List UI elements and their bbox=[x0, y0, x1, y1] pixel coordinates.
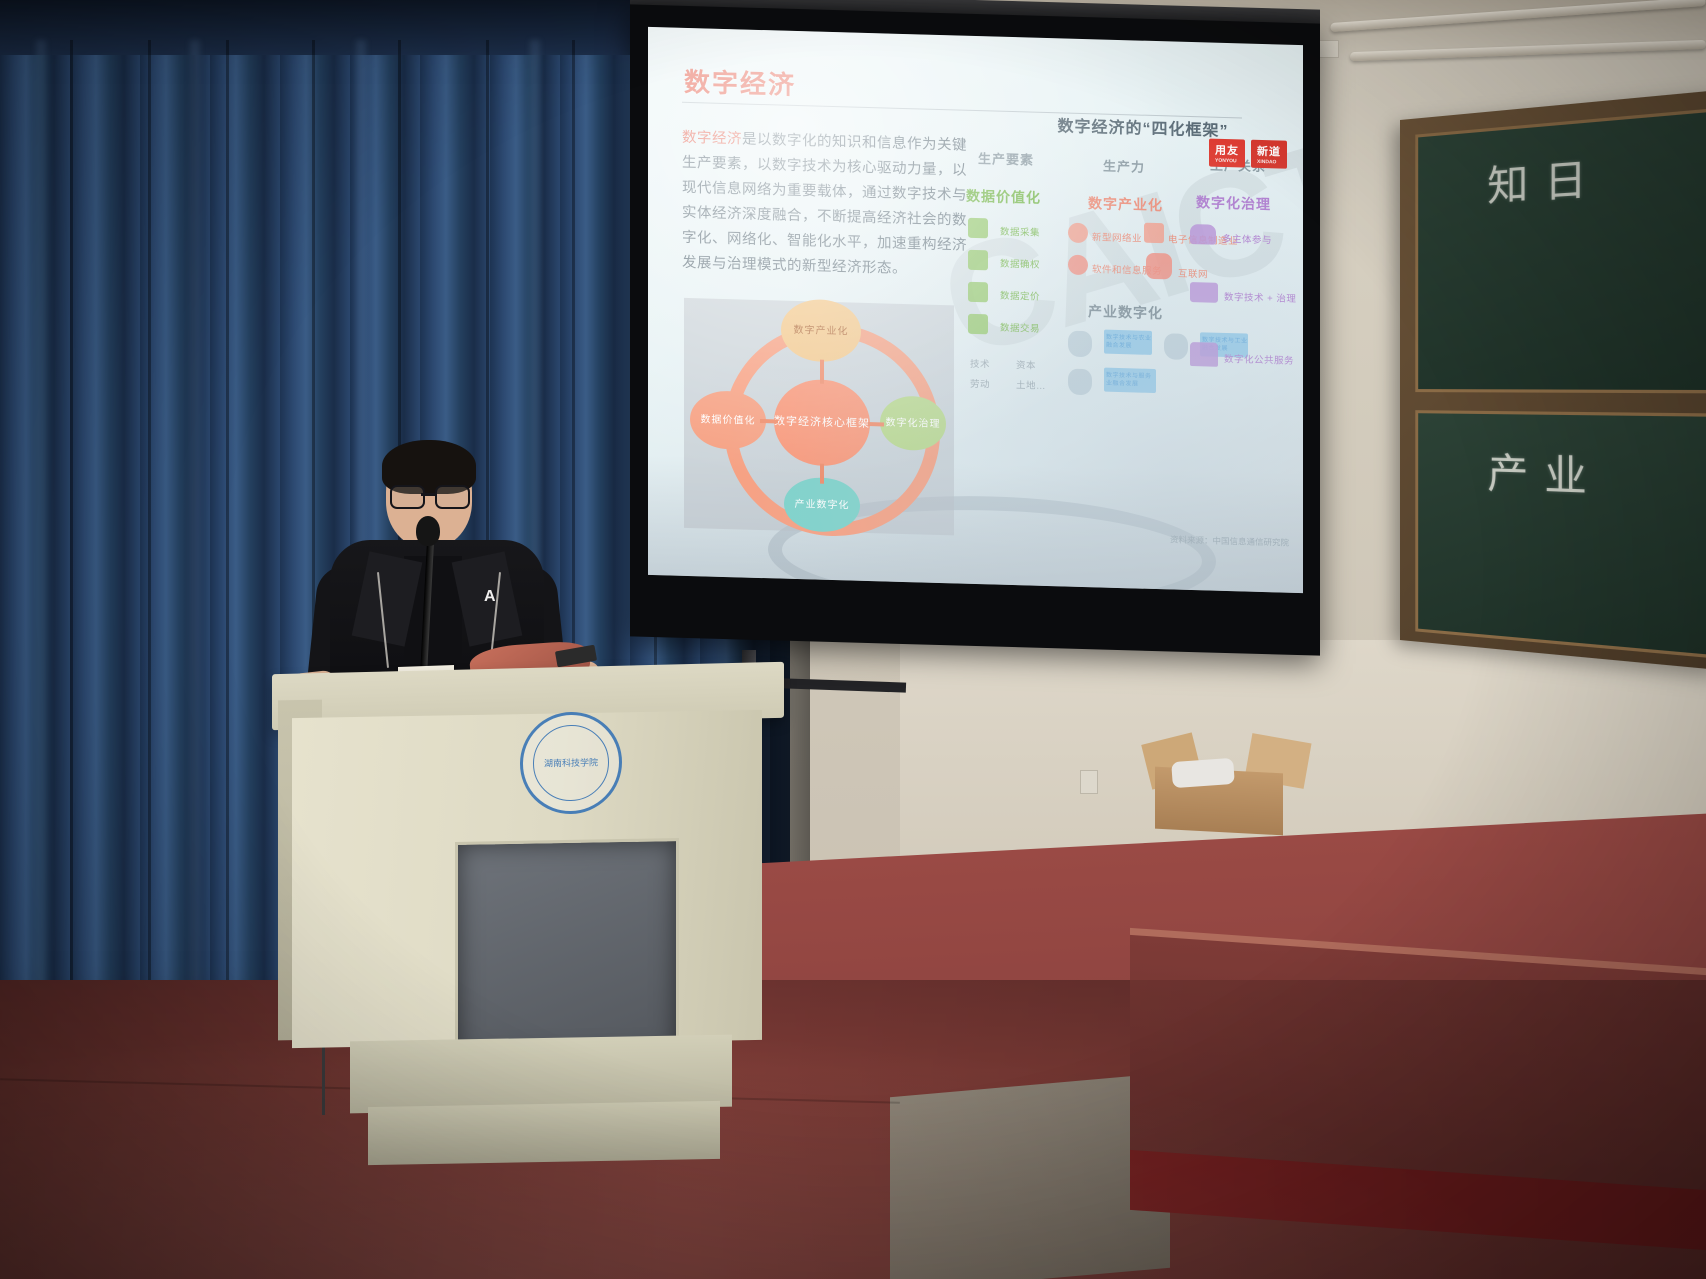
curtain-fold bbox=[148, 40, 151, 1035]
slide-title: 数字经济 bbox=[684, 62, 796, 102]
glasses-lens-left bbox=[390, 485, 425, 509]
diagram-arrow bbox=[868, 422, 884, 426]
diagram-arrow bbox=[820, 464, 824, 484]
data-pricing-icon bbox=[968, 282, 988, 303]
software-services-icon bbox=[1068, 255, 1088, 276]
glasses-lens-right bbox=[435, 485, 470, 509]
logo-xindao-sub: XINDAO bbox=[1257, 159, 1281, 166]
framework-col3-item: 数字化公共服务 bbox=[1224, 351, 1294, 367]
floor-reflection bbox=[0, 980, 1706, 1279]
framework-col2-item: 互联网 bbox=[1178, 266, 1208, 281]
wall-outlet-icon bbox=[1080, 770, 1098, 794]
projected-slide: CAICT 数字经济 数字经济是以数字化的知识和信息作为关键生产要素，以数字技术… bbox=[648, 27, 1303, 593]
multi-stakeholder-icon bbox=[1190, 224, 1216, 245]
industry-icon bbox=[1164, 333, 1188, 360]
logo-yonyou-text: 用友 bbox=[1215, 145, 1239, 158]
framework-col2-head: 生产力 bbox=[1103, 156, 1145, 176]
slide-logos: 用友 YONYOU 新道 XINDAO bbox=[1209, 139, 1287, 169]
framework-col3-sub: 数字化治理 bbox=[1196, 192, 1271, 214]
framework-col3-item: 多主体参与 bbox=[1222, 231, 1272, 246]
curtain-fold bbox=[226, 40, 229, 1035]
blackboard-lower-text: 产 业 bbox=[1487, 445, 1589, 507]
framework-col1-footer: 资本 bbox=[1016, 357, 1036, 372]
framework-col1-head: 生产要素 bbox=[978, 148, 1034, 169]
photo-scene: 知 日 产 业 CAICT 数字经济 数字经济是以数字化的知识和信息作为关键生产… bbox=[0, 0, 1706, 1279]
framework-title: 数字经济的“四化框架” bbox=[993, 110, 1293, 142]
podium-base-lower bbox=[368, 1101, 720, 1165]
framework-col2-sub2: 产业数字化 bbox=[1088, 301, 1163, 323]
jacket-logo-icon: A bbox=[484, 588, 496, 606]
framework-col1-item: 数据采集 bbox=[1000, 224, 1040, 239]
speaker-glasses bbox=[390, 485, 468, 505]
blackboard: 知 日 产 业 bbox=[1400, 89, 1706, 670]
slide-paragraph-body: 是以数字化的知识和信息作为关键生产要素，以数字技术为核心驱动力量，以现代信息网络… bbox=[682, 131, 967, 277]
diagram-arrow bbox=[760, 419, 778, 424]
blackboard-upper-panel: 知 日 bbox=[1415, 108, 1706, 393]
logo-xindao-text: 新道 bbox=[1257, 146, 1281, 159]
framework-col1-item: 数据确权 bbox=[1000, 256, 1040, 271]
logo-yonyou: 用友 YONYOU bbox=[1209, 139, 1245, 168]
electronics-manufacturing-icon bbox=[1144, 223, 1164, 244]
logo-xindao: 新道 XINDAO bbox=[1251, 140, 1287, 169]
curtain-highlight bbox=[190, 40, 200, 1035]
blackboard-upper-text: 知 日 bbox=[1487, 150, 1589, 216]
new-network-icon bbox=[1068, 223, 1088, 244]
digital-tech-governance-icon bbox=[1190, 282, 1218, 303]
curtain-fold bbox=[70, 40, 73, 1035]
circular-framework-diagram: 数字产业化 数据价值化 数字化治理 产业数字化 数字经济核心框架 bbox=[684, 298, 954, 536]
services-icon bbox=[1068, 369, 1092, 396]
curtain-highlight bbox=[36, 40, 46, 1035]
slide-paragraph-lead: 数字经济 bbox=[682, 130, 742, 148]
framework-col2-item: 新型网络业 bbox=[1092, 229, 1142, 244]
podium-embedded-monitor bbox=[455, 838, 679, 1062]
framework-col2-sub: 数字产业化 bbox=[1088, 193, 1163, 215]
internet-icon bbox=[1146, 253, 1172, 280]
data-ownership-icon bbox=[968, 250, 988, 271]
podium-emblem-ring bbox=[533, 724, 609, 801]
framework-col1-item: 数据交易 bbox=[1000, 320, 1040, 335]
slide-paragraph: 数字经济是以数字化的知识和信息作为关键生产要素，以数字技术为核心驱动力量，以现代… bbox=[682, 126, 972, 284]
framework-col2-item2: 数字技术与农业融合发展 bbox=[1106, 334, 1152, 351]
framework-col3-item: 数字技术 + 治理 bbox=[1224, 289, 1296, 305]
framework-col1-footer: 土地… bbox=[1016, 377, 1046, 392]
framework-col2-item2: 数字技术与服务业融合发展 bbox=[1106, 372, 1156, 389]
blackboard-lower-panel: 产 业 bbox=[1415, 410, 1706, 658]
framework-col1-item: 数据定价 bbox=[1000, 288, 1040, 303]
agriculture-icon bbox=[1068, 331, 1092, 358]
public-services-icon bbox=[1190, 342, 1218, 367]
logo-yonyou-sub: YONYOU bbox=[1215, 158, 1239, 165]
framework-col1-footer: 技术 bbox=[970, 356, 990, 371]
packing-material bbox=[1171, 758, 1235, 788]
diagram-arrow bbox=[820, 360, 824, 384]
microphone-head-icon bbox=[416, 516, 440, 546]
framework-col1-sub: 数据价值化 bbox=[966, 186, 1041, 208]
data-trading-icon bbox=[968, 314, 988, 335]
data-collection-icon bbox=[968, 218, 988, 239]
framework-col1-footer: 劳动 bbox=[970, 376, 990, 391]
glasses-bridge bbox=[421, 493, 435, 496]
